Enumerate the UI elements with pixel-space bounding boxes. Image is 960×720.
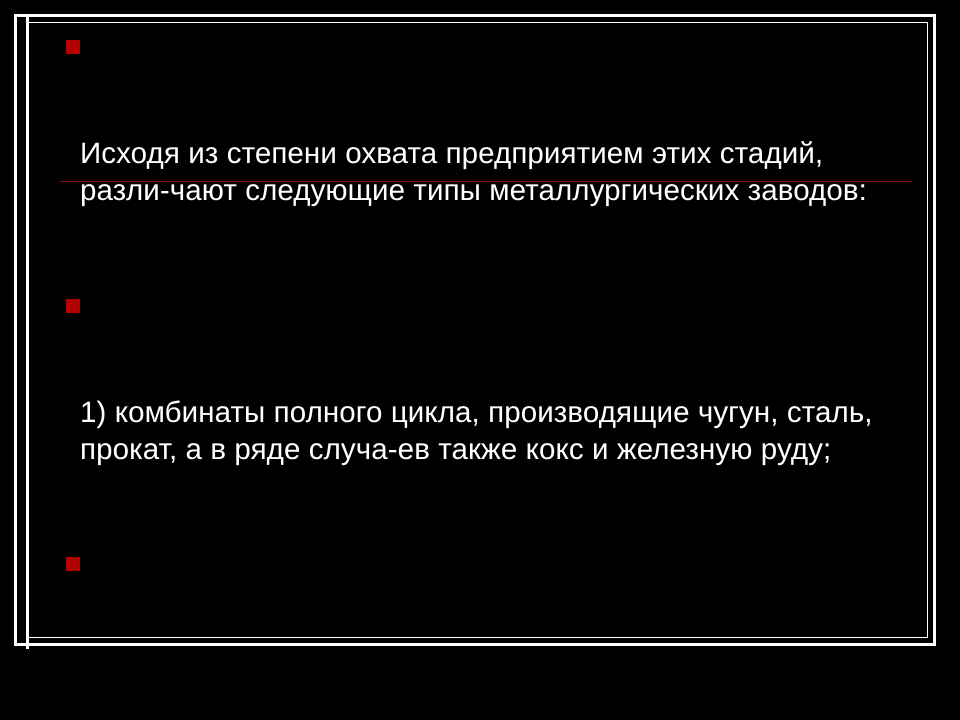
presentation-slide: Исходя из степени охвата предприятием эт… — [0, 0, 960, 720]
bullet-text: 1) комбинаты полного цикла, производящие… — [80, 395, 920, 469]
list-item: 2) заводы неполного цикла (чу-гун + стал… — [36, 543, 920, 632]
list-item: Исходя из степени охвата предприятием эт… — [36, 26, 920, 284]
slide-bottom-margin — [0, 650, 960, 720]
bullet-list: Исходя из степени охвата предприятием эт… — [36, 26, 920, 632]
list-item: 1) комбинаты полного цикла, производящие… — [36, 285, 920, 543]
square-bullet-icon — [66, 299, 80, 313]
slide-left-border-accent — [26, 17, 29, 649]
square-bullet-icon — [66, 557, 80, 571]
bullet-text: Исходя из степени охвата предприятием эт… — [80, 136, 920, 210]
square-bullet-icon — [66, 40, 80, 54]
horizontal-red-rule — [60, 181, 912, 182]
slide-content: Исходя из степени охвата предприятием эт… — [36, 26, 920, 632]
